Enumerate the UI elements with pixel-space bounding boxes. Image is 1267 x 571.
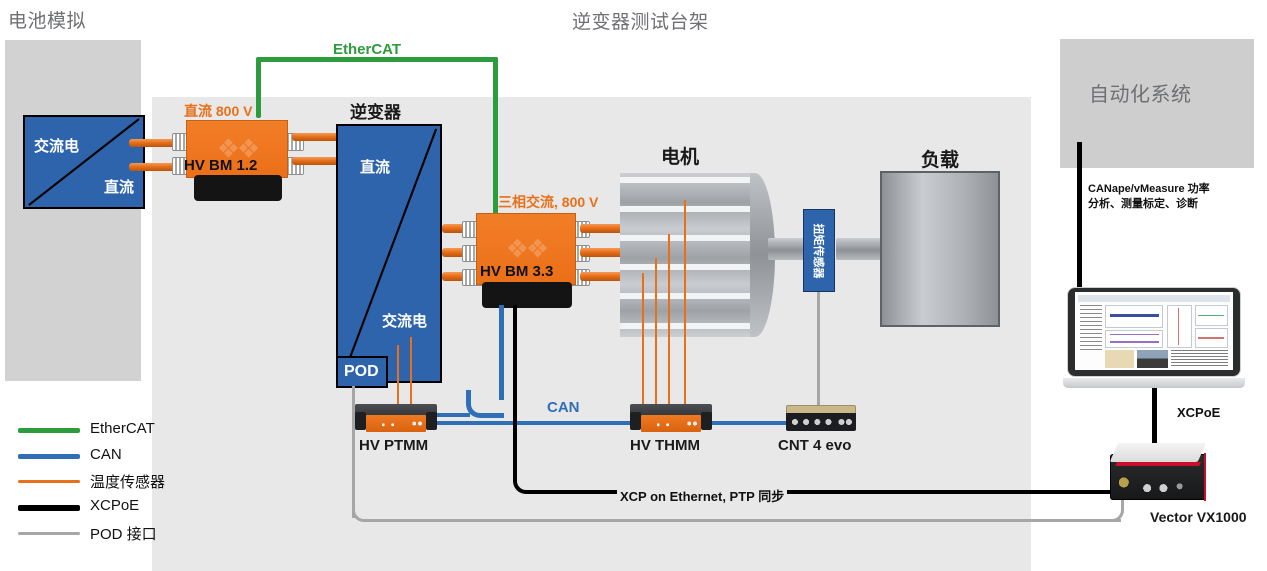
legend-label-can: CAN bbox=[90, 446, 122, 463]
legend-label-pod: POD 接口 bbox=[90, 523, 157, 544]
test-bench-title: 逆变器测试台架 bbox=[572, 7, 709, 34]
pod-interface-box: POD bbox=[336, 356, 388, 388]
hv-thmm-endcap-left bbox=[630, 412, 641, 429]
hv-bm-33-watermark-icon: ❖❖ bbox=[506, 234, 547, 265]
hv-thmm-ports-icon bbox=[686, 419, 699, 429]
hv-ptmm-endcap-right bbox=[426, 412, 437, 429]
temp-sensor-wire-motor-4 bbox=[642, 273, 644, 405]
hv-ptmm-label: HV PTMM bbox=[359, 437, 428, 454]
load-block bbox=[880, 171, 1000, 327]
hv-bm-33-module: ❖❖ HV BM 3.3 bbox=[470, 213, 580, 313]
app-trace bbox=[1198, 337, 1224, 338]
vx1000-connector-face bbox=[1113, 472, 1203, 498]
legend: EtherCAT CAN 温度传感器 XCPoE POD 接口 bbox=[18, 420, 208, 560]
hv-ptmm-endcap-left bbox=[355, 412, 366, 429]
hv-bm-12-lid bbox=[194, 175, 282, 201]
app-trace bbox=[1110, 314, 1159, 317]
temp-sensor-wire-inverter-1 bbox=[410, 337, 412, 412]
laptop-base bbox=[1063, 378, 1245, 388]
hv-thmm-endcap-right bbox=[701, 412, 712, 429]
hv-bm-33-voltage-label: 三相交流, 800 V bbox=[498, 192, 598, 212]
legend-swatch-xcpoe bbox=[18, 505, 80, 511]
hv-bm-12-voltage-label: 直流 800 V bbox=[184, 101, 252, 121]
app-video-panel bbox=[1137, 350, 1168, 367]
xcpoe-line-from-hvbm33 bbox=[513, 305, 517, 482]
motor-fin bbox=[620, 177, 750, 183]
vx1000-lid bbox=[1110, 443, 1207, 462]
temp-sensor-wire-motor-3 bbox=[655, 258, 657, 405]
legend-swatch-ethercat bbox=[18, 428, 80, 433]
cnt4evo-label: CNT 4 evo bbox=[778, 437, 851, 454]
battery-converter-dc-label: 直流 bbox=[104, 176, 134, 197]
temp-sensor-wire-motor-2 bbox=[668, 234, 670, 405]
xcp-ethernet-label: XCP on Ethernet, PTP 同步 bbox=[617, 485, 787, 506]
vx1000-brand-stripe bbox=[1115, 462, 1201, 466]
app-chart-panel-5 bbox=[1195, 328, 1228, 348]
legend-swatch-can bbox=[18, 454, 80, 459]
canape-callout: CANape/vMeasure 功率 分析、测量标定、诊断 bbox=[1088, 182, 1210, 212]
vector-vx1000-device bbox=[1110, 443, 1206, 505]
ethercat-line-vertical-left bbox=[256, 60, 261, 118]
app-tree-panel bbox=[1080, 305, 1102, 353]
hv-cable-inverter-top bbox=[292, 133, 342, 141]
hv-bm-33-lid bbox=[482, 282, 572, 308]
hv-thmm-warning-icon bbox=[653, 420, 674, 428]
can-line-from-hvbm33 bbox=[499, 305, 504, 400]
torque-sensor-label: 扭矩传感器 bbox=[811, 223, 827, 278]
pod-label: POD bbox=[344, 363, 379, 381]
vx1000-accent-line bbox=[1204, 453, 1206, 501]
legend-swatch-temp-sensor bbox=[18, 480, 80, 483]
pod-bus-horizontal bbox=[374, 519, 1121, 522]
legend-label-xcpoe: XCPoE bbox=[90, 497, 139, 514]
legend-swatch-pod bbox=[18, 532, 80, 535]
laptop-screen bbox=[1068, 288, 1239, 376]
xcpoe-label: XCPoE bbox=[1177, 405, 1220, 420]
battery-simulation-panel bbox=[5, 40, 141, 381]
can-label: CAN bbox=[547, 399, 580, 416]
laptop-display bbox=[1075, 292, 1232, 369]
motor-title: 电机 bbox=[661, 142, 699, 169]
motor-shaft-right bbox=[836, 238, 886, 260]
battery-converter-block: 交流电 直流 bbox=[23, 115, 145, 209]
app-values-panel bbox=[1171, 350, 1228, 367]
inverter-block: 直流 交流电 bbox=[336, 124, 442, 383]
inverter-ac-label: 交流电 bbox=[382, 310, 427, 331]
inverter-dc-label: 直流 bbox=[360, 156, 390, 177]
hv-bm-12-label: HV BM 1.2 bbox=[184, 157, 257, 174]
temp-sensor-wire-motor-1 bbox=[684, 200, 686, 405]
pod-line-torque-sensor bbox=[817, 292, 820, 410]
automation-laptop bbox=[1063, 288, 1245, 388]
app-trace bbox=[1198, 315, 1224, 317]
hv-ptmm-warning-icon bbox=[378, 420, 399, 428]
temp-sensor-wire-inverter-2 bbox=[397, 345, 399, 412]
app-trace bbox=[1110, 341, 1159, 342]
cnt4evo-ports-icon bbox=[790, 418, 852, 426]
app-chart-panel-4 bbox=[1195, 305, 1228, 327]
vector-vx1000-label: Vector VX1000 bbox=[1150, 509, 1247, 525]
hv-bm-33-label: HV BM 3.3 bbox=[480, 263, 553, 280]
app-chart-panel-3 bbox=[1167, 305, 1192, 348]
app-map-panel bbox=[1105, 350, 1133, 367]
hv-bm-12-module: ❖❖ HV BM 1.2 bbox=[182, 120, 292, 200]
cnt4evo-module bbox=[786, 405, 856, 431]
battery-converter-ac-label: 交流电 bbox=[34, 135, 79, 156]
ethercat-label: EtherCAT bbox=[333, 41, 401, 58]
app-toolbar bbox=[1078, 295, 1229, 302]
app-trace bbox=[1178, 308, 1179, 345]
battery-simulation-title: 电池模拟 bbox=[8, 6, 86, 33]
xcpoe-line-auto-to-laptop bbox=[1077, 142, 1082, 294]
legend-label-temp-sensor: 温度传感器 bbox=[90, 471, 165, 492]
legend-label-ethercat: EtherCAT bbox=[90, 420, 155, 437]
app-chart-panel-1 bbox=[1105, 305, 1163, 328]
can-bus-horizontal bbox=[388, 421, 808, 425]
hv-cable-inverter-bottom bbox=[292, 157, 342, 165]
torque-sensor: 扭矩传感器 bbox=[803, 209, 835, 292]
hv-thmm-label: HV THMM bbox=[630, 437, 700, 454]
hv-ptmm-ports-icon bbox=[411, 419, 424, 429]
hv-thmm-module bbox=[630, 404, 712, 432]
xcpoe-line-vx-to-laptop bbox=[1152, 382, 1157, 444]
automation-system-title: 自动化系统 bbox=[1089, 78, 1192, 107]
cnt4evo-connector-panel bbox=[786, 413, 856, 431]
load-title: 负载 bbox=[921, 145, 959, 172]
hv-ptmm-module bbox=[355, 404, 437, 432]
app-chart-panel-2 bbox=[1105, 330, 1163, 349]
can-line-corner-hvbm33 bbox=[466, 390, 504, 418]
app-trace bbox=[1110, 334, 1159, 335]
inverter-title: 逆变器 bbox=[350, 98, 401, 123]
